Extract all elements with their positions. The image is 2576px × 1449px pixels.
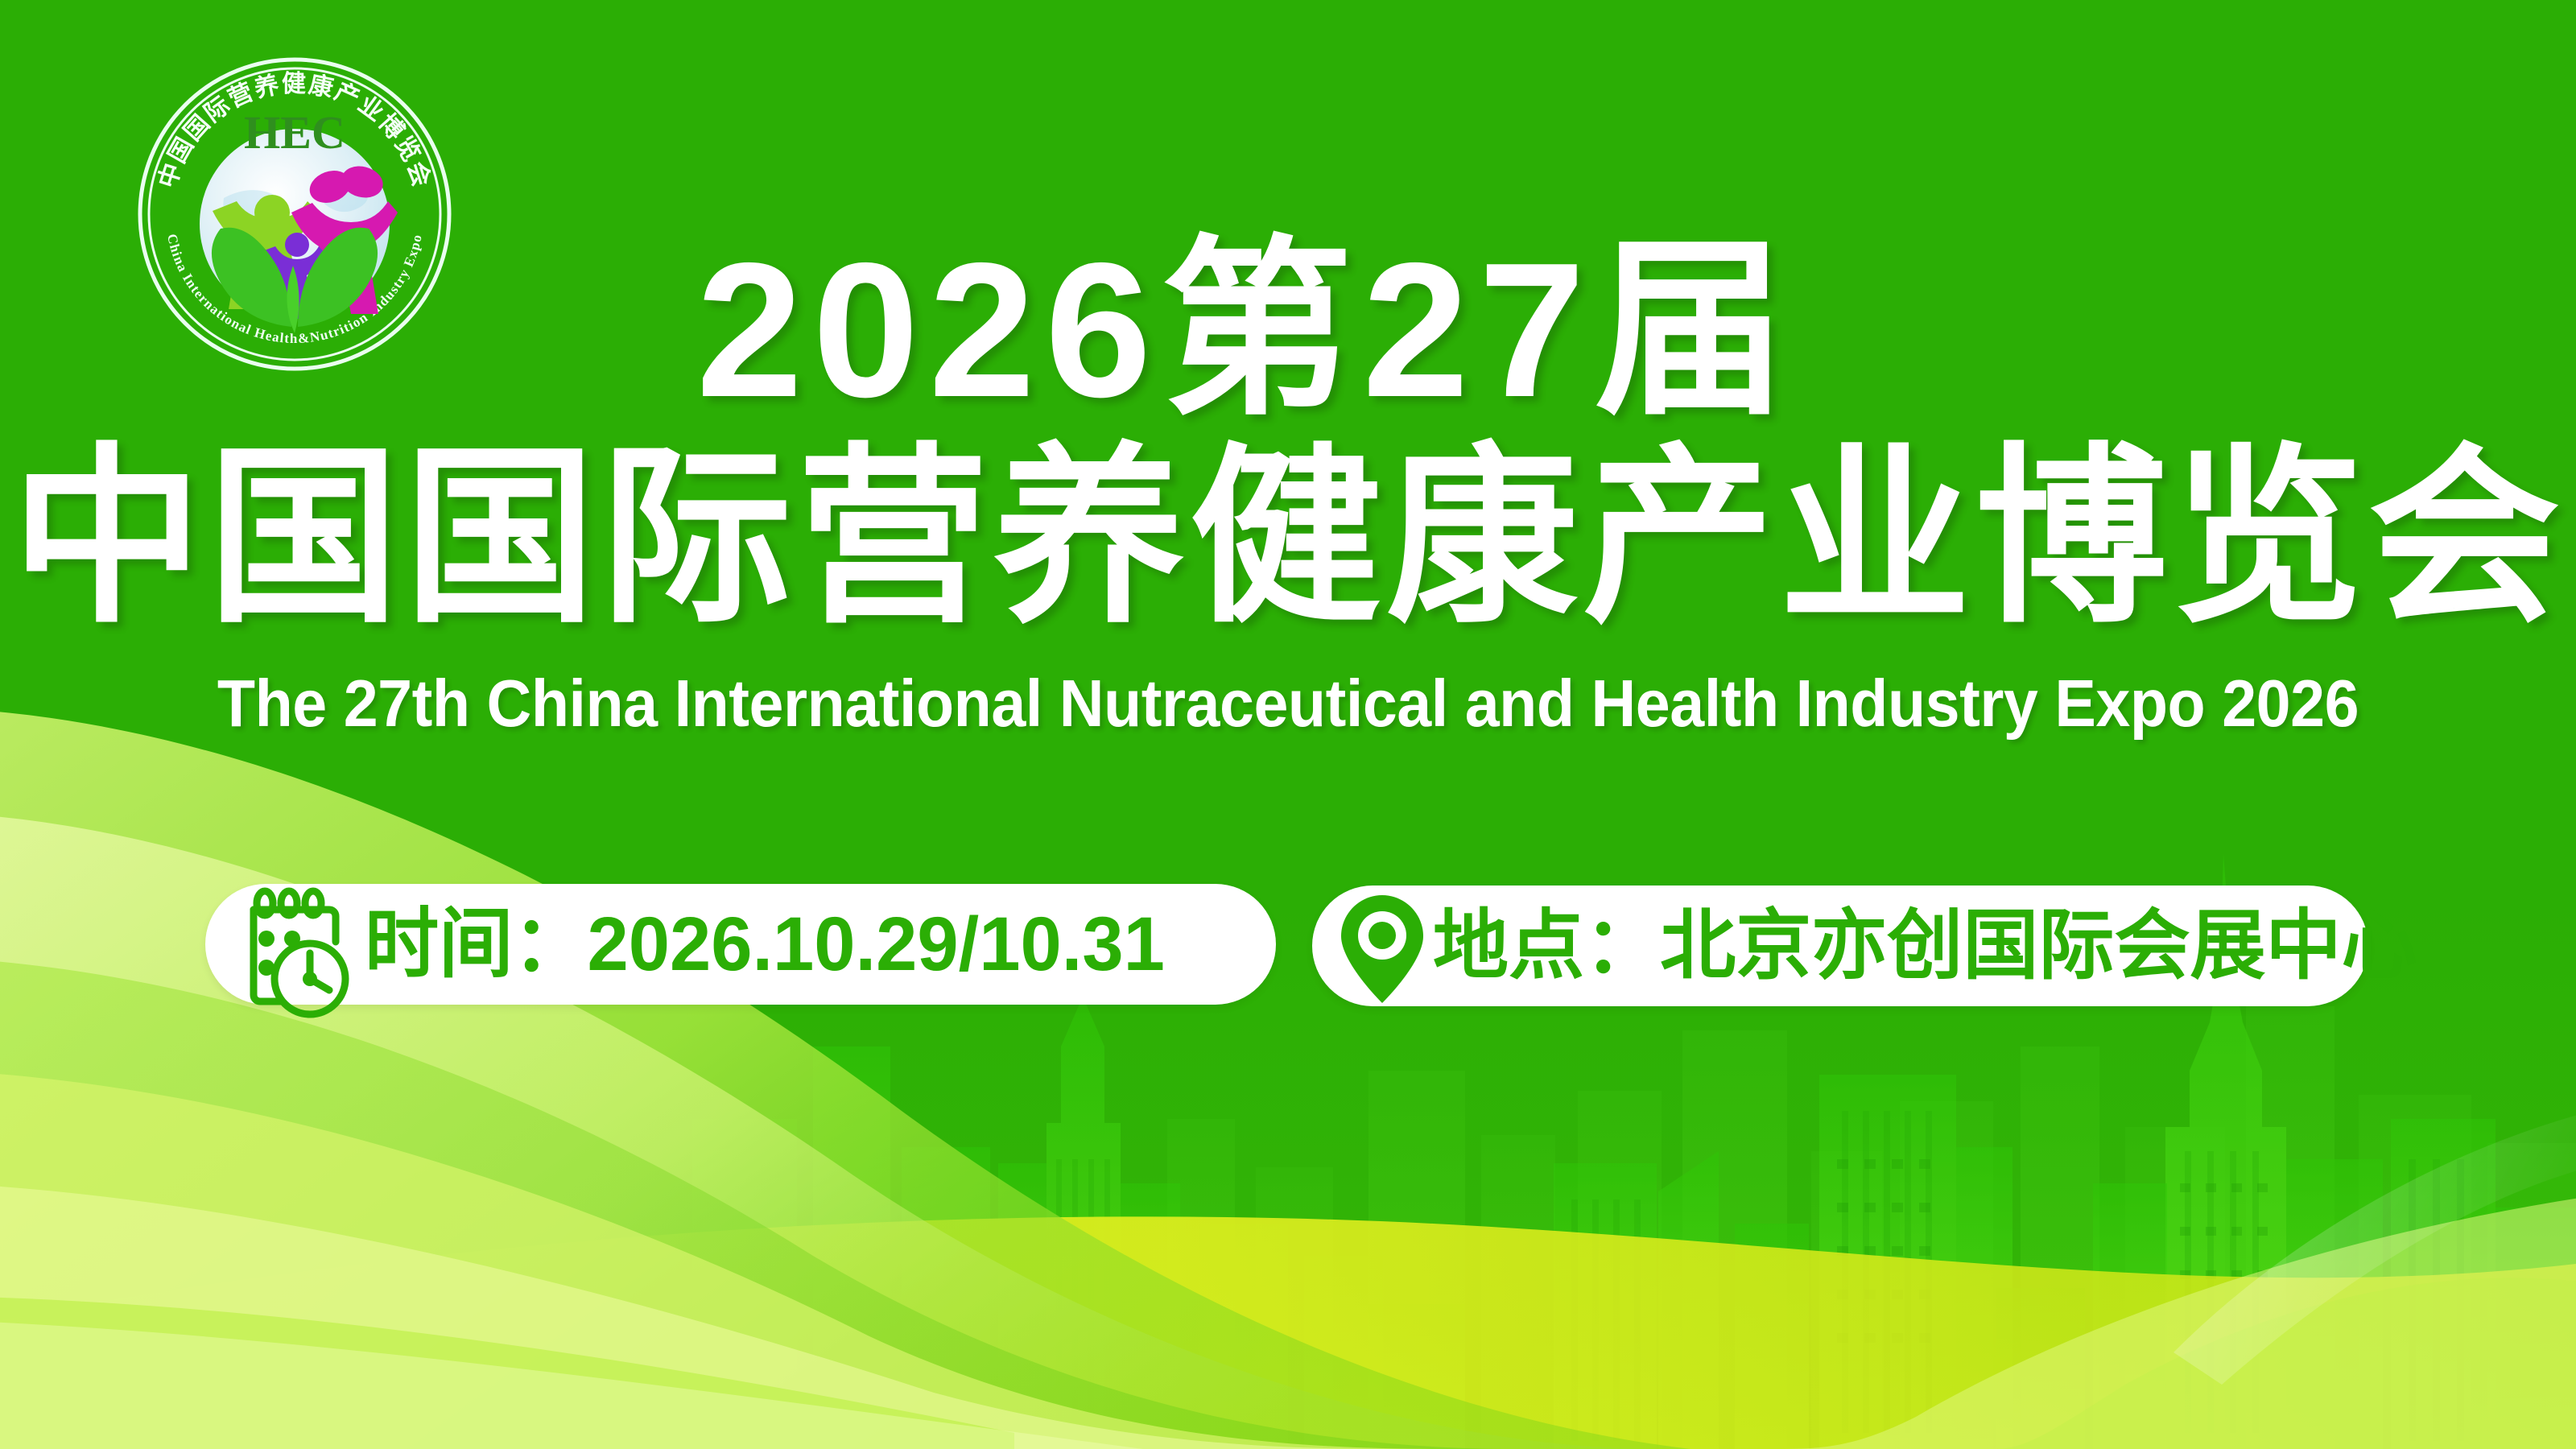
location-pin-icon: [1335, 889, 1430, 1009]
headline-title-cn: 中国国际营养健康产业博览会: [0, 443, 2576, 634]
date-pill[interactable]: 时间：2026.10.29/10.31: [205, 884, 1276, 1005]
expo-banner: 中国国际营养健康产业博览会 China International Health…: [0, 0, 2576, 1449]
logo-monogram: HEC: [244, 106, 345, 159]
venue-pill[interactable]: 地点：北京亦创国际会展中心: [1312, 885, 2368, 1006]
calendar-clock-icon: [239, 882, 360, 1021]
date-text: 时间：2026.10.29/10.31: [365, 902, 1165, 986]
headline-title-en: The 27th China International Nutraceutic…: [90, 667, 2486, 741]
venue-text: 地点：北京亦创国际会展中心: [1433, 904, 2417, 988]
headline-edition: 2026第27届: [0, 235, 2534, 427]
